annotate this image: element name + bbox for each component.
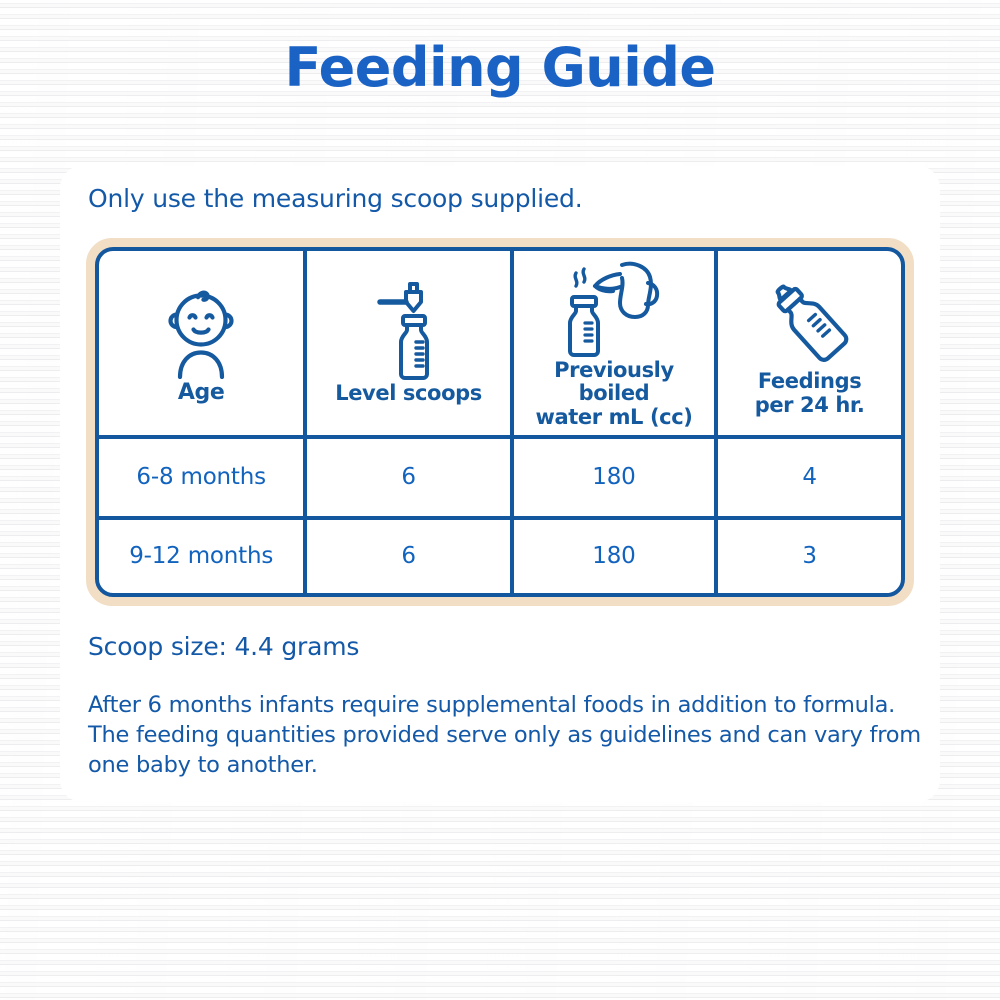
table-cell-water: 180 bbox=[510, 520, 714, 593]
baby-face-icon bbox=[158, 279, 244, 379]
table-cell-age: 9-12 months bbox=[99, 520, 303, 593]
cell-value-age: 9-12 months bbox=[129, 543, 273, 569]
table-header-label-boiled-water-line2: water mL (cc) bbox=[535, 405, 692, 429]
cell-value-water: 180 bbox=[592, 464, 635, 490]
table-cell-water: 180 bbox=[510, 439, 714, 516]
measuring-scoop-icon bbox=[374, 280, 444, 380]
table-row: 9-12 months 6 180 3 bbox=[99, 516, 901, 593]
page-title: Feeding Guide bbox=[0, 36, 1000, 99]
cell-value-feedings: 3 bbox=[802, 543, 816, 569]
table-cell-age: 6-8 months bbox=[99, 439, 303, 516]
table-cell-feedings: 3 bbox=[714, 520, 901, 593]
table-cell-scoops: 6 bbox=[303, 520, 509, 593]
table-header-cell-age: Age bbox=[99, 251, 303, 435]
feeding-table: Age bbox=[95, 247, 905, 597]
table-cell-feedings: 4 bbox=[714, 439, 901, 516]
table-header-label-feedings-line1: Feedings bbox=[758, 369, 862, 393]
feeding-table-outer-frame: Age bbox=[86, 238, 914, 606]
table-header-label-level-scoops: Level scoops bbox=[331, 382, 486, 406]
table-header-label-age: Age bbox=[174, 381, 229, 406]
disclaimer-text: After 6 months infants require supplemen… bbox=[88, 690, 924, 780]
table-header-label-boiled-water-line1: Previously boiled bbox=[554, 358, 674, 406]
table-header-label-feedings-line2: per 24 hr. bbox=[755, 393, 865, 417]
baby-bottle-icon bbox=[765, 268, 855, 368]
table-header-cell-boiled-water: Previously boiled water mL (cc) bbox=[510, 251, 714, 435]
scoop-size-text: Scoop size: 4.4 grams bbox=[88, 632, 359, 661]
table-cell-scoops: 6 bbox=[303, 439, 509, 516]
cell-value-scoops: 6 bbox=[401, 464, 415, 490]
table-row: 6-8 months 6 180 4 bbox=[99, 439, 901, 516]
table-header-row: Age bbox=[99, 251, 901, 439]
table-header-cell-level-scoops: Level scoops bbox=[303, 251, 509, 435]
pouring-kettle-icon bbox=[562, 257, 666, 357]
cell-value-water: 180 bbox=[592, 543, 635, 569]
scoop-instruction-text: Only use the measuring scoop supplied. bbox=[88, 184, 582, 213]
feeding-guide-card: Only use the measuring scoop supplied. bbox=[60, 166, 940, 802]
cell-value-scoops: 6 bbox=[401, 543, 415, 569]
cell-value-age: 6-8 months bbox=[136, 464, 266, 490]
table-header-cell-feedings: Feedings per 24 hr. bbox=[714, 251, 901, 435]
cell-value-feedings: 4 bbox=[802, 464, 816, 490]
